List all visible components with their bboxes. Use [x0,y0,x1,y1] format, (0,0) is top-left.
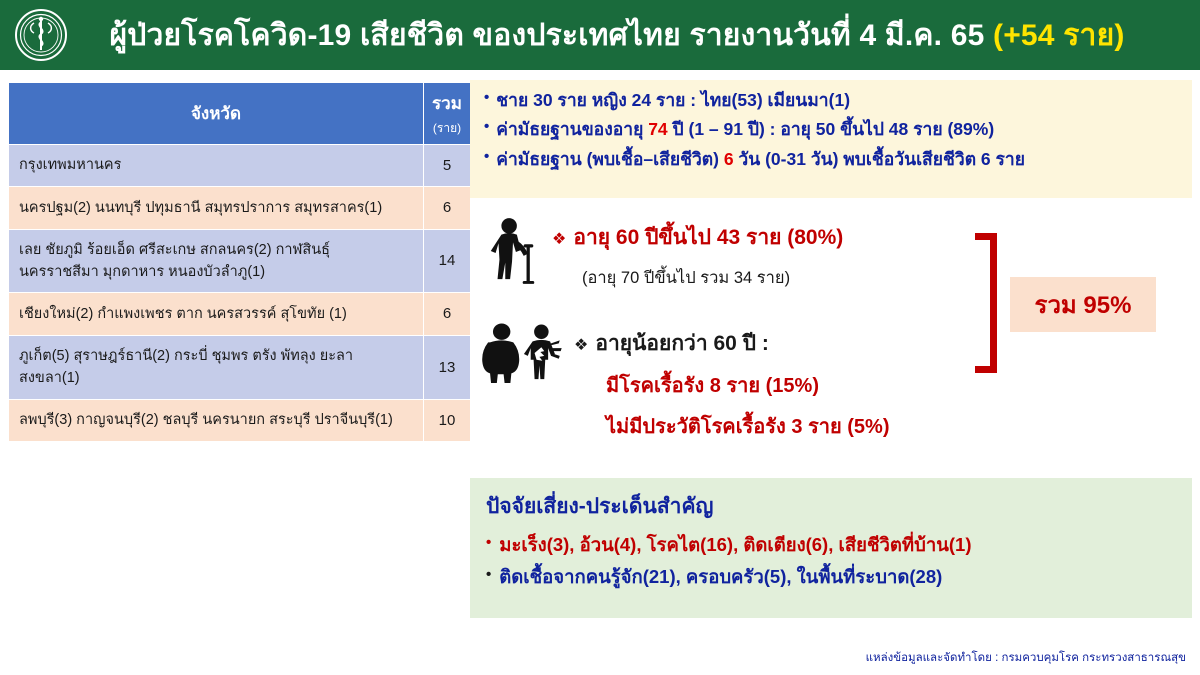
table-row: นครปฐม(2) นนทบุรี ปทุมธานี สมุทรปราการ ส… [9,187,471,229]
table-row: เลย ชัยภูมิ ร้อยเอ็ด ศรีสะเกษ สกลนคร(2) … [9,229,471,293]
column-header-total: รวม (ราย) [424,83,471,145]
summary-text-part: วัน (0-31 วัน) พบเชื้อวันเสียชีวิต 6 ราย [734,149,1025,169]
column-header-total-unit: (ราย) [428,119,466,138]
elderly-person-with-cane-icon [484,217,542,292]
diamond-bullet-icon: ❖ [574,335,588,355]
table-row: ภูเก็ต(5) สุราษฎร์ธานี(2) กระบี่ ชุมพร ต… [9,335,471,399]
cell-provinces: เชียงใหม่(2) กำแพงเพชร ตาก นครสวรรค์ สุโ… [9,293,424,335]
summary-line: •ค่ามัธยฐาน (พบเชื้อ–เสียชีวิต) 6 วัน (0… [484,148,1186,170]
summary-text-part: ค่ามัธยฐานของอายุ [496,119,648,139]
cell-total: 10 [424,399,471,441]
summary-line: •ค่ามัธยฐานของอายุ 74 ปี (1 – 91 ปี) : อ… [484,118,1186,140]
page-title-highlight: (+54 ราย) [993,19,1125,52]
younger-age-item: ไม่มีประวัติโรคเรื้อรัง 3 ราย (5%) [606,410,890,442]
risk-factors-panel: ปัจจัยเสี่ยง-ประเด็นสำคัญ •มะเร็ง(3), อ้… [470,478,1192,618]
risk-line: •มะเร็ง(3), อ้วน(4), โรคไต(16), ติดเตียง… [486,533,1186,557]
column-header-total-label: รวม [432,94,462,113]
younger-age-group-row: ❖ อายุน้อยกว่า 60 ปี : มีโรคเรื้อรัง 8 ร… [480,323,890,442]
younger-age-headline-text: อายุน้อยกว่า 60 ปี : [595,327,768,360]
senior-age-subnote: (อายุ 70 ปีขึ้นไป รวม 34 ราย) [582,265,843,291]
summary-line: •ชาย 30 ราย หญิง 24 ราย : ไทย(53) เมียนม… [484,89,1186,111]
table-row: ลพบุรี(3) กาญจนบุรี(2) ชลบุรี นครนายก สร… [9,399,471,441]
province-deaths-table: จังหวัด รวม (ราย) กรุงเทพมหานคร5นครปฐม(2… [8,82,471,442]
senior-age-text: ❖ อายุ 60 ปีขึ้นไป 43 ราย (80%) (อายุ 70… [552,217,843,291]
cell-total: 6 [424,293,471,335]
summary-line-text: ค่ามัธยฐานของอายุ 74 ปี (1 – 91 ปี) : อา… [496,118,994,140]
age-breakdown-area: ❖ อายุ 60 ปีขึ้นไป 43 ราย (80%) (อายุ 70… [470,205,1192,470]
risk-line-text: มะเร็ง(3), อ้วน(4), โรคไต(16), ติดเตียง(… [499,533,971,557]
cell-total: 13 [424,335,471,399]
summary-text-part: 74 [648,119,667,139]
page-header: ผู้ป่วยโรคโควิด-19 เสียชีวิต ของประเทศไท… [0,0,1200,70]
bullet-icon: • [486,533,491,553]
cell-provinces: ลพบุรี(3) กาญจนบุรี(2) ชลบุรี นครนายก สร… [9,399,424,441]
summary-line-text: ค่ามัธยฐาน (พบเชื้อ–เสียชีวิต) 6 วัน (0-… [496,148,1025,170]
bullet-icon: • [484,118,489,136]
bullet-icon: • [484,89,489,107]
summary-text-part: 6 [724,149,734,169]
table-row: เชียงใหม่(2) กำแพงเพชร ตาก นครสวรรค์ สุโ… [9,293,471,335]
demographics-summary-panel: •ชาย 30 ราย หญิง 24 ราย : ไทย(53) เมียนม… [470,80,1192,198]
risk-factors-title: ปัจจัยเสี่ยง-ประเด็นสำคัญ [486,490,1186,523]
younger-age-text: ❖ อายุน้อยกว่า 60 ปี : มีโรคเรื้อรัง 8 ร… [574,323,890,442]
page-title-main: ผู้ป่วยโรคโควิด-19 เสียชีวิต ของประเทศไท… [109,19,993,52]
summary-text-part: ค่ามัธยฐาน (พบเชื้อ–เสียชีวิต) [496,149,724,169]
cell-total: 14 [424,229,471,293]
table-row: กรุงเทพมหานคร5 [9,145,471,187]
ministry-of-public-health-caduceus-emblem-icon [14,8,68,62]
diamond-bullet-icon: ❖ [552,229,566,249]
cell-provinces: เลย ชัยภูมิ ร้อยเอ็ด ศรีสะเกษ สกลนคร(2) … [9,229,424,293]
risk-line-text: ติดเชื้อจากคนรู้จัก(21), ครอบครัว(5), ใน… [499,565,942,589]
source-credit: แหล่งข้อมูลและจัดทำโดย : กรมควบคุมโรค กร… [866,649,1186,667]
page-title: ผู้ป่วยโรคโควิด-19 เสียชีวิต ของประเทศไท… [74,12,1200,59]
risk-line: •ติดเชื้อจากคนรู้จัก(21), ครอบครัว(5), ใ… [486,565,1186,589]
summary-text-part: ปี (1 – 91 ปี) : อายุ 50 ขึ้นไป 48 ราย (… [668,119,995,139]
column-header-province: จังหวัด [9,83,424,145]
total-percentage-badge: รวม 95% [1010,277,1156,332]
cell-total: 6 [424,187,471,229]
cell-provinces: นครปฐม(2) นนทบุรี ปทุมธานี สมุทรปราการ ส… [9,187,424,229]
bullet-icon: • [484,148,489,166]
bullet-icon: • [486,565,491,585]
table-header-row: จังหวัด รวม (ราย) [9,83,471,145]
cell-total: 5 [424,145,471,187]
obese-and-coughing-person-icon [480,323,564,388]
senior-age-group-row: ❖ อายุ 60 ปีขึ้นไป 43 ราย (80%) (อายุ 70… [484,217,843,292]
younger-age-item: มีโรคเรื้อรัง 8 ราย (15%) [606,369,890,401]
summary-text-part: ชาย 30 ราย หญิง 24 ราย : ไทย(53) เมียนมา… [496,90,850,110]
senior-age-headline: ❖ อายุ 60 ปีขึ้นไป 43 ราย (80%) [552,221,843,254]
summary-line-text: ชาย 30 ราย หญิง 24 ราย : ไทย(53) เมียนมา… [496,89,850,111]
younger-age-headline: ❖ อายุน้อยกว่า 60 ปี : [574,327,890,360]
senior-age-headline-text: อายุ 60 ปีขึ้นไป 43 ราย (80%) [573,221,843,254]
grouping-bracket [975,233,997,373]
cell-provinces: ภูเก็ต(5) สุราษฎร์ธานี(2) กระบี่ ชุมพร ต… [9,335,424,399]
infographic-page: ผู้ป่วยโรคโควิด-19 เสียชีวิต ของประเทศไท… [0,0,1200,675]
cell-provinces: กรุงเทพมหานคร [9,145,424,187]
